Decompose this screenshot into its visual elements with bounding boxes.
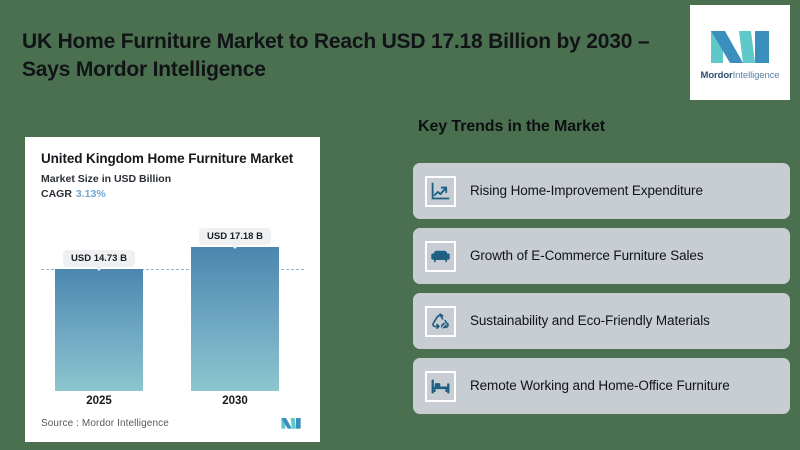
chart-x-axis-labels: 2025 2030 bbox=[41, 395, 304, 415]
trend-item-label: Growth of E-Commerce Furniture Sales bbox=[470, 247, 703, 265]
bar-2030[interactable] bbox=[191, 247, 279, 391]
bar-value-label: USD 17.18 B bbox=[199, 228, 271, 245]
x-tick-label: 2030 bbox=[191, 395, 279, 407]
trend-item-sustainability-and-eco-friendly-materials[interactable]: Sustainability and Eco-Friendly Material… bbox=[413, 293, 790, 349]
chart-footer: Source : Mordor Intelligence bbox=[41, 416, 304, 430]
trend-item-label: Rising Home-Improvement Expenditure bbox=[470, 182, 703, 200]
mordor-m-mark-icon bbox=[709, 25, 771, 67]
bar-2025[interactable] bbox=[55, 269, 143, 391]
chart-card: United Kingdom Home Furniture Market Mar… bbox=[25, 137, 320, 442]
cagr-row: CAGR3.13% bbox=[41, 188, 304, 200]
page-header: UK Home Furniture Market to Reach USD 17… bbox=[0, 0, 800, 110]
trend-item-rising-home-improvement-expenditure[interactable]: Rising Home-Improvement Expenditure bbox=[413, 163, 790, 219]
cagr-value: 3.13% bbox=[76, 188, 106, 200]
trends-heading: Key Trends in the Market bbox=[418, 118, 605, 136]
recycle-leaf-icon bbox=[425, 306, 456, 337]
chart-plot-area: USD 14.73 B USD 17.18 B bbox=[41, 219, 304, 391]
page-title: UK Home Furniture Market to Reach USD 17… bbox=[22, 28, 672, 83]
sofa-icon bbox=[425, 241, 456, 272]
cagr-label: CAGR bbox=[41, 188, 72, 200]
chart-source: Source : Mordor Intelligence bbox=[41, 418, 169, 429]
x-tick-label: 2025 bbox=[55, 395, 143, 407]
brand-name-light: Intelligence bbox=[733, 70, 780, 81]
brand-logo: MordorIntelligence bbox=[690, 5, 790, 100]
brand-name-bold: Mordor bbox=[701, 70, 733, 81]
bed-desk-icon bbox=[425, 371, 456, 402]
trend-item-growth-of-ecommerce-furniture-sales[interactable]: Growth of E-Commerce Furniture Sales bbox=[413, 228, 790, 284]
trend-item-label: Remote Working and Home-Office Furniture bbox=[470, 377, 730, 395]
trend-item-label: Sustainability and Eco-Friendly Material… bbox=[470, 312, 710, 330]
chart-title: United Kingdom Home Furniture Market bbox=[41, 151, 304, 168]
trends-list: Rising Home-Improvement Expenditure Grow… bbox=[413, 163, 790, 423]
bar-value-label: USD 14.73 B bbox=[63, 250, 135, 267]
brand-wordmark: MordorIntelligence bbox=[701, 70, 780, 81]
chart-subtitle: Market Size in USD Billion bbox=[41, 173, 304, 185]
trend-item-remote-working-and-home-office-furniture[interactable]: Remote Working and Home-Office Furniture bbox=[413, 358, 790, 414]
chart-up-arrow-icon bbox=[425, 176, 456, 207]
mordor-m-mark-icon bbox=[278, 416, 304, 430]
